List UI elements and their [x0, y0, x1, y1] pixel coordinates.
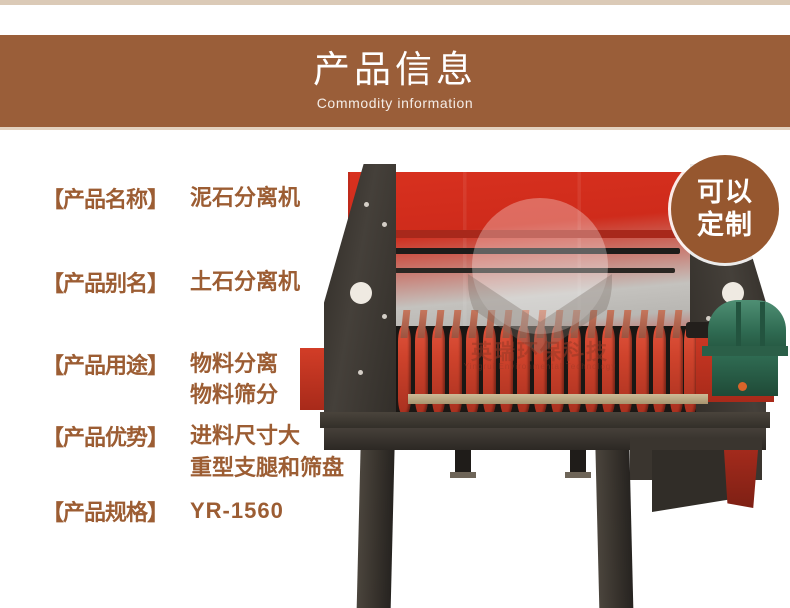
gearbox-rib: [760, 302, 765, 348]
gearbox-rib: [736, 302, 741, 348]
gearbox-motor-assembly: [698, 286, 790, 392]
page-title: 产品信息: [313, 51, 477, 90]
bolt-icon: [382, 314, 387, 319]
spec-values: 泥石分离机: [190, 182, 300, 213]
bolt-icon: [358, 370, 363, 375]
top-crossbar: [360, 230, 690, 238]
bolt-icon: [364, 202, 369, 207]
spec-value: 土石分离机: [190, 266, 300, 297]
banner-underline: [0, 127, 790, 130]
page-banner: 产品信息 Commodity information: [0, 35, 790, 127]
spec-values: 土石分离机: [190, 266, 300, 297]
spec-value: 泥石分离机: [190, 182, 300, 213]
oil-plug-icon: [738, 382, 747, 391]
customizable-badge: 可以 定制: [671, 155, 779, 263]
frame-hole: [350, 282, 372, 304]
support-leg-right: [595, 450, 634, 608]
base-deck-beam: [320, 412, 770, 428]
bolt-icon: [382, 222, 387, 227]
product-info-page: 产品信息 Commodity information 【产品名称】 泥石分离机 …: [0, 0, 790, 608]
top-white-gap: [0, 5, 790, 35]
spec-values: 物料分离 物料筛分: [190, 348, 278, 410]
support-leg-left: [355, 450, 394, 608]
screening-disc-rotor: [396, 310, 696, 422]
badge-line-2: 定制: [697, 209, 753, 242]
gearbox-mount-plate: [702, 346, 788, 356]
badge-line-1: 可以: [697, 176, 753, 209]
cross-brace-plate: [565, 472, 591, 478]
deck-plate: [408, 394, 708, 404]
spec-label: 【产品规格】: [42, 495, 190, 527]
spec-label: 【产品优势】: [42, 420, 190, 452]
page-subtitle: Commodity information: [317, 95, 474, 111]
upper-tie-rod: [370, 248, 680, 254]
left-support-frame: [324, 164, 396, 416]
spec-label: 【产品用途】: [42, 348, 190, 380]
spec-label: 【产品别名】: [42, 266, 190, 298]
cross-brace-stub: [455, 450, 471, 472]
spec-value: 物料分离: [190, 348, 278, 379]
spec-values: YR-1560: [190, 495, 284, 526]
cross-brace-stub: [570, 450, 586, 472]
spec-label: 【产品名称】: [42, 182, 190, 214]
cross-brace-plate: [450, 472, 476, 478]
spec-value: 物料筛分: [190, 379, 278, 410]
spec-value: YR-1560: [190, 495, 284, 526]
discharge-chute-liner: [724, 450, 758, 508]
lower-tie-rod: [390, 268, 675, 273]
gearbox-housing: [708, 300, 786, 352]
